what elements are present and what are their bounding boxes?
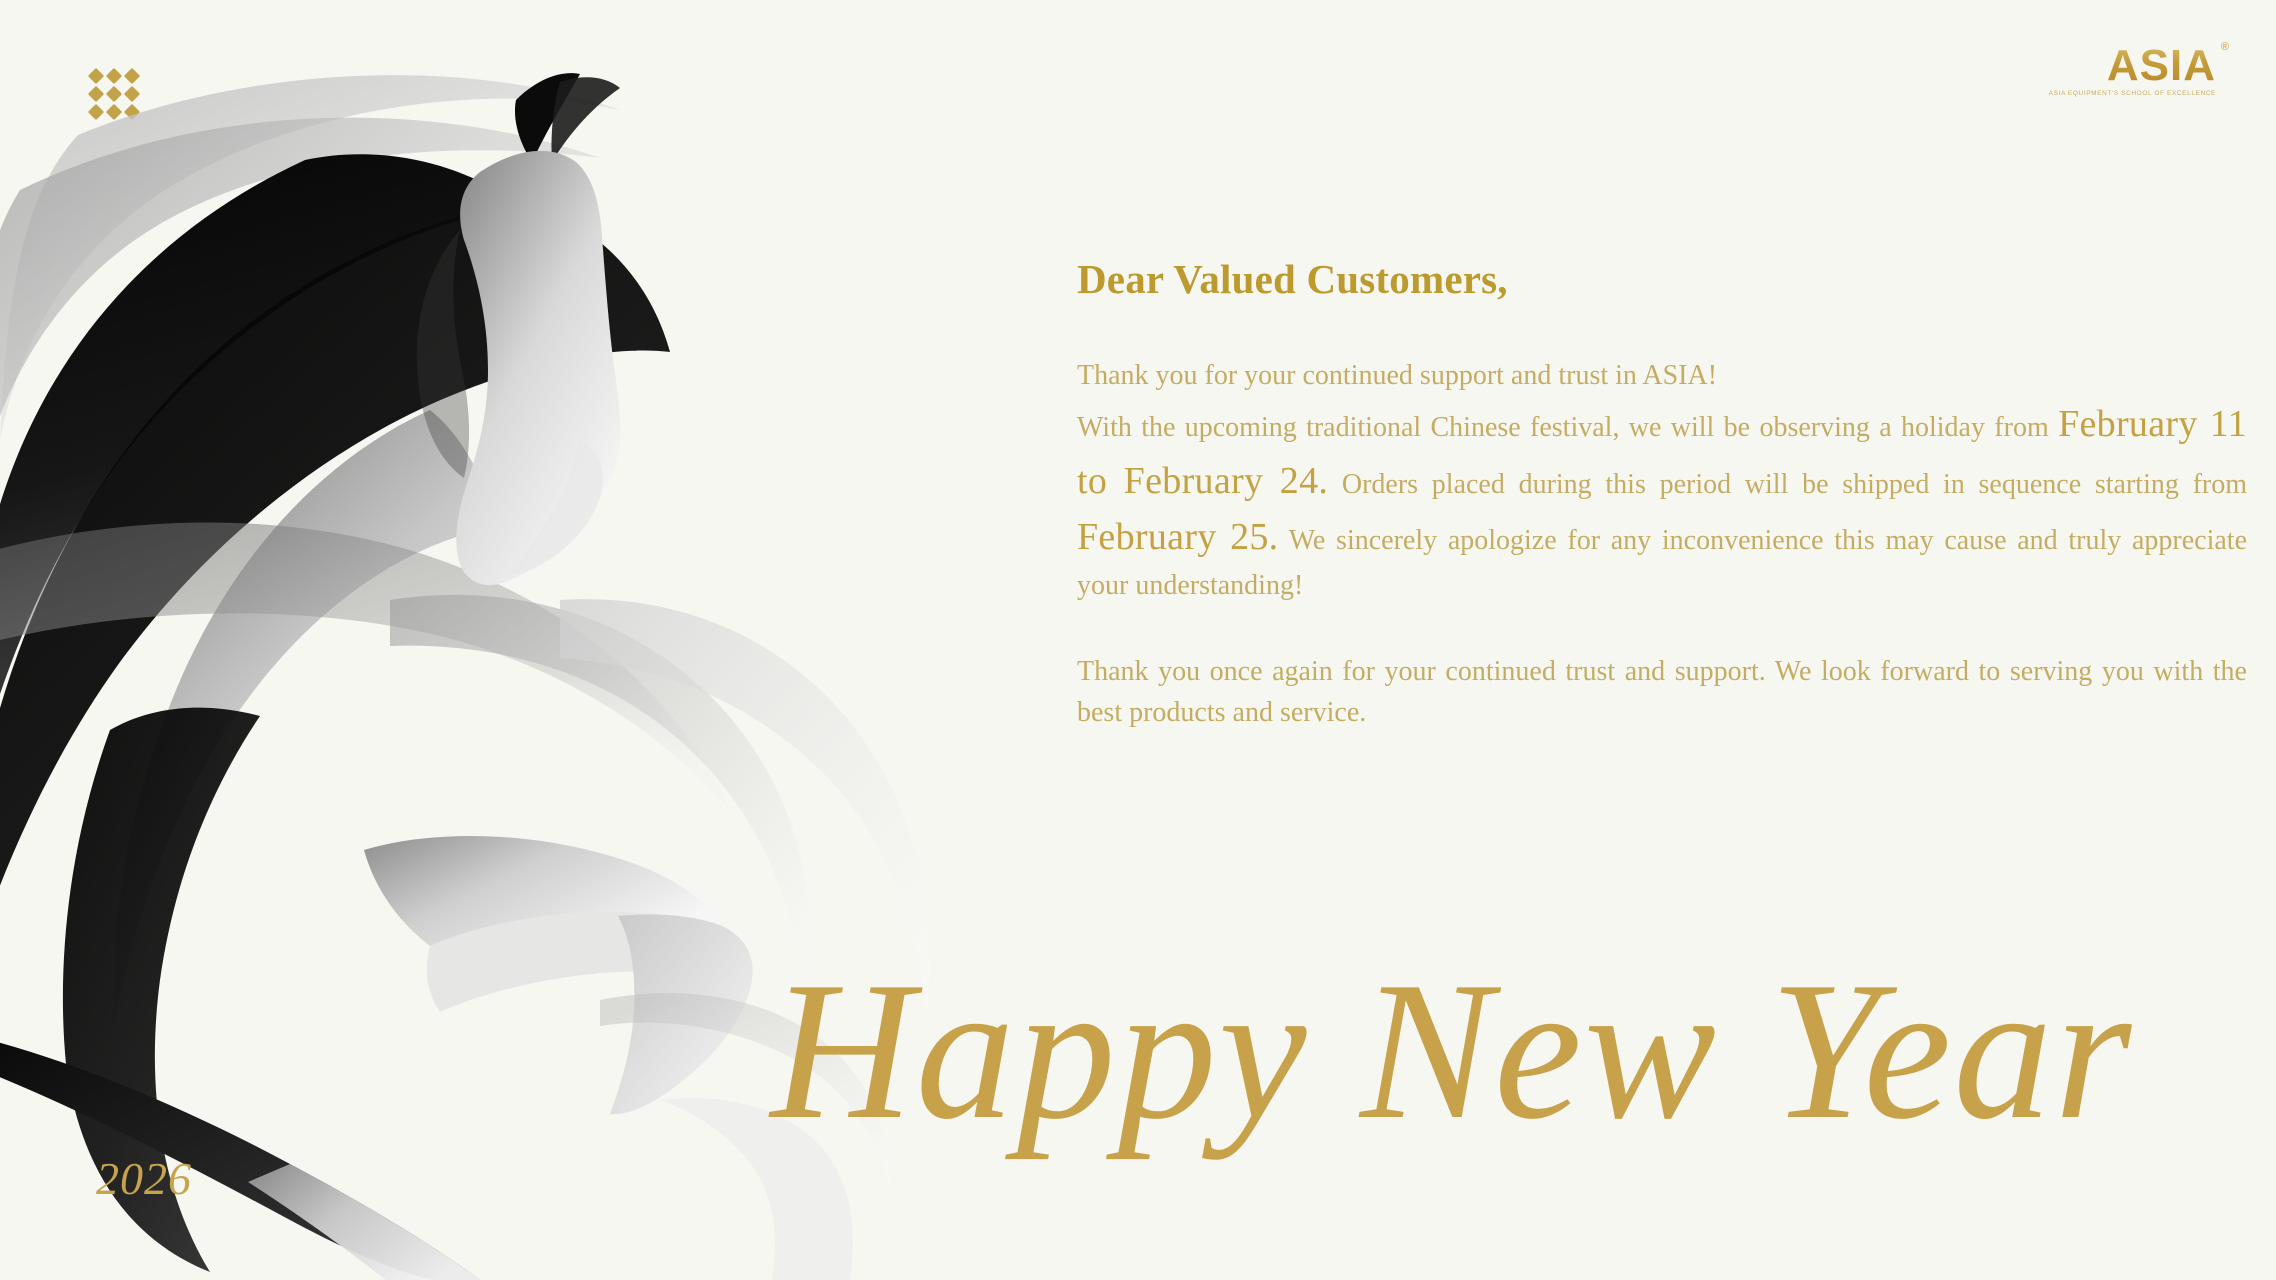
diamond-cell [124,104,140,120]
diamond-cell [106,68,122,84]
diamond-cell [88,86,104,102]
mane-dark-arc [0,154,520,782]
foreleg-upper [364,836,722,946]
diamond-cell [106,104,122,120]
paragraph-1-line-2: With the upcoming traditional Chinese fe… [1077,412,2058,443]
diamond-cell [124,86,140,102]
ear-right [551,77,620,162]
diamond-cell [124,68,140,84]
body-ribbon-mid [0,523,730,811]
cheek-shadow [417,230,469,478]
muzzle-highlight [508,440,603,574]
message-block: Dear Valued Customers, Thank you for you… [1077,255,2247,733]
diamond-cell [106,86,122,102]
hind-leg-light [248,1164,490,1280]
horse-head [456,151,620,585]
chest-curl-light [113,410,500,1020]
diamond-grid-ornament-icon [88,68,140,120]
logo-tagline: ASIA EQUIPMENT'S SCHOOL OF EXCELLENCE [2049,91,2216,98]
asia-logo: ASIA® ASIA EQUIPMENT'S SCHOOL OF EXCELLE… [2049,44,2216,98]
mane-ribbon-outer [0,75,620,440]
ear-left [515,73,580,162]
diamond-cell [88,68,104,84]
logo-wordmark: ASIA [2107,44,2216,88]
message-paragraph-1: Thank you for your continued support and… [1077,355,2247,607]
paragraph-1-line-1: Thank you for your continued support and… [1077,355,2247,396]
year-label: 2026 [96,1152,192,1205]
registered-trademark-icon: ® [2221,42,2229,53]
paragraph-1-line-3: Orders placed during this period will be… [1328,469,2247,500]
message-heading: Dear Valued Customers, [1077,255,2247,303]
paragraph-spacer [1077,607,2247,651]
message-paragraph-2: Thank you once again for your continued … [1077,651,2247,734]
greeting-card: ASIA® ASIA EQUIPMENT'S SCHOOL OF EXCELLE… [0,0,2276,1280]
mane-ribbon-pale [0,118,600,550]
shipping-resume-date: February 25. [1077,516,1279,558]
haunch-ribbon [390,595,811,1000]
greeting-headline: Happy New Year [672,952,2232,1150]
diamond-cell [88,104,104,120]
neck-back-mass [0,202,670,984]
hind-leg-dark [0,1040,490,1280]
